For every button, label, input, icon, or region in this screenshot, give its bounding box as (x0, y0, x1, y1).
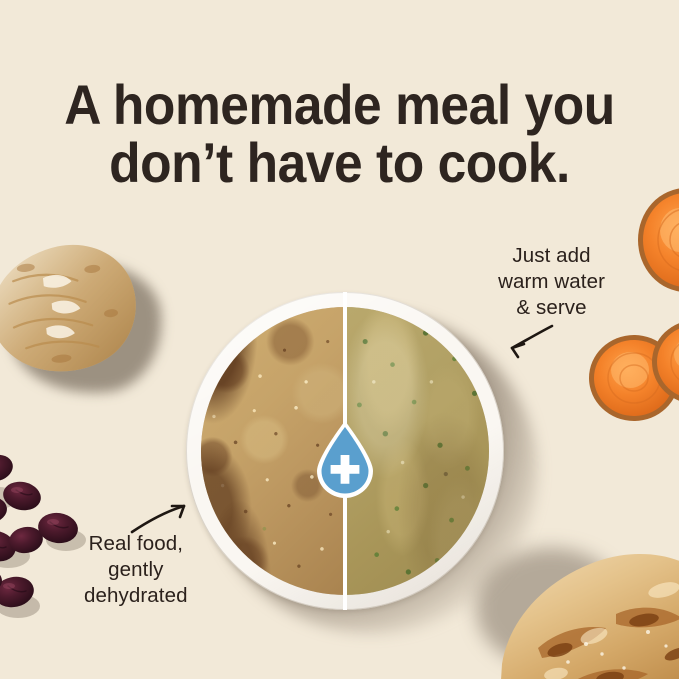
curved-arrow-up-right-icon (130, 498, 196, 538)
sweet-potato-slice (636, 186, 679, 294)
product-marketing-image: A homemade meal you don’t have to cook. … (0, 0, 679, 679)
sweet-potato-slice (650, 318, 679, 406)
page-title: A homemade meal you don’t have to cook. (27, 76, 652, 191)
curved-arrow-down-left-icon (494, 322, 556, 362)
water-drop-plus-icon (311, 419, 379, 501)
annotation-real-food-gently-dehydrated: Real food, gently dehydrated (84, 531, 188, 610)
cooked-white-fish-fillet (0, 224, 151, 388)
annotation-just-add-warm-water: Just add warm water & serve (498, 243, 605, 322)
seared-chicken-breast (498, 528, 679, 679)
